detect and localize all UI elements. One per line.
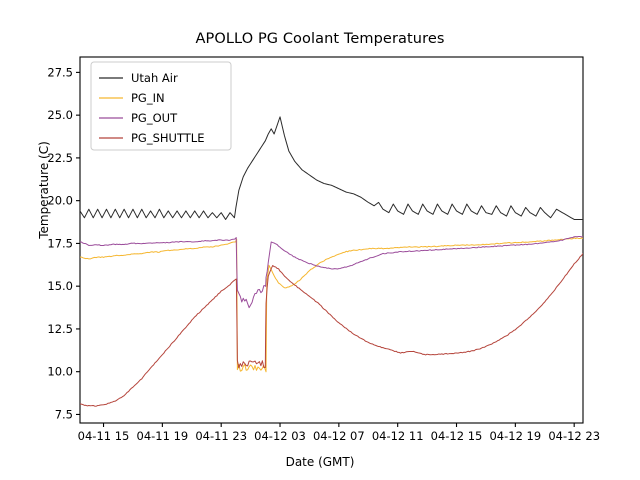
y-tick-label: 25.0 — [47, 108, 73, 122]
x-tick-label: 04-11 19 — [137, 429, 189, 443]
y-tick-label: 7.5 — [55, 407, 73, 421]
series-line-pg-out — [80, 236, 583, 307]
data-series-group — [80, 117, 583, 406]
x-tick-label: 04-11 23 — [195, 429, 247, 443]
y-axis-ticks: 7.510.012.515.017.520.022.525.027.5 — [47, 65, 80, 421]
x-tick-label: 04-11 15 — [78, 429, 130, 443]
x-tick-label: 04-12 03 — [254, 429, 306, 443]
y-tick-label: 22.5 — [47, 151, 73, 165]
figure-canvas: APOLLO PG Coolant Temperatures Temperatu… — [0, 0, 640, 480]
series-line-pg-shuttle — [80, 254, 583, 407]
legend-label-pg-in: PG_IN — [131, 91, 165, 105]
x-tick-label: 04-12 23 — [548, 429, 600, 443]
y-tick-label: 17.5 — [47, 236, 73, 250]
y-tick-label: 20.0 — [47, 194, 73, 208]
plot-area: 7.510.012.515.017.520.022.525.027.5 04-1… — [0, 0, 640, 480]
legend-label-utah-air: Utah Air — [131, 71, 178, 85]
x-tick-label: 04-12 15 — [431, 429, 483, 443]
legend-box[interactable]: Utah AirPG_INPG_OUTPG_SHUTTLE — [91, 62, 231, 150]
x-tick-label: 04-12 07 — [313, 429, 365, 443]
x-tick-label: 04-12 11 — [372, 429, 424, 443]
legend-label-pg-out: PG_OUT — [131, 111, 178, 125]
y-tick-label: 10.0 — [47, 365, 73, 379]
y-tick-label: 12.5 — [47, 322, 73, 336]
y-tick-label: 27.5 — [47, 65, 73, 79]
x-tick-label: 04-12 19 — [489, 429, 541, 443]
y-tick-label: 15.0 — [47, 279, 73, 293]
series-line-pg-in — [80, 238, 583, 372]
x-axis-ticks: 04-11 1504-11 1904-11 2304-12 0304-12 07… — [78, 423, 600, 443]
legend-label-pg-shuttle: PG_SHUTTLE — [131, 131, 204, 145]
